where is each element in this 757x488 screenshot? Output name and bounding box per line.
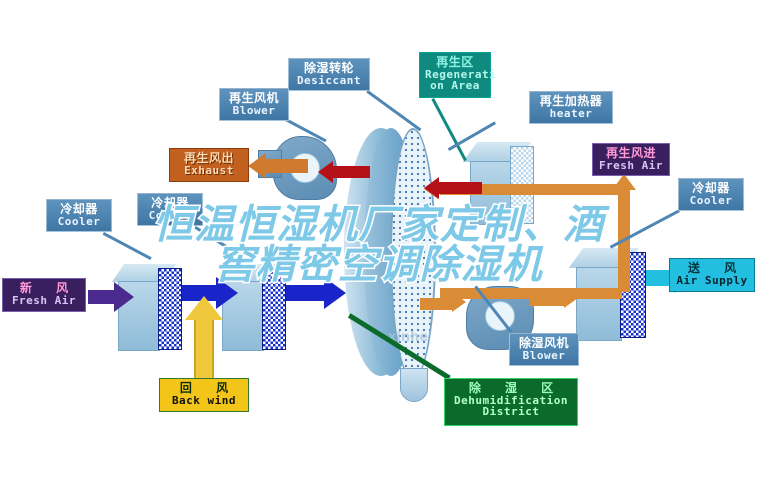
label-regen-blower-en: Blower xyxy=(225,105,283,117)
cooler-unit-2-coil xyxy=(262,268,286,350)
label-cooler-left-b-cn: 冷却器 xyxy=(143,197,197,210)
label-regeneration-area-cn: 再生区 xyxy=(425,56,485,69)
supply-filter-front xyxy=(576,267,622,341)
leader-cooler-left-a xyxy=(103,232,152,260)
label-regen-fresh-air-in: 再生风进Fresh Air xyxy=(592,143,670,176)
label-regen-blower-cn: 再生风机 xyxy=(225,92,283,105)
label-dehum-blower: 除湿风机Blower xyxy=(509,333,579,366)
leader-regen-area xyxy=(431,98,467,161)
label-desiccant-rotor-en: Desiccant xyxy=(294,75,364,87)
label-fresh-air-in-en: Fresh Air xyxy=(8,295,80,307)
label-regen-blower: 再生风机Blower xyxy=(219,88,289,121)
label-back-wind: 回 风Back wind xyxy=(159,378,249,412)
leader-desiccant xyxy=(366,90,421,131)
arrow-fresh-air-in xyxy=(88,282,134,312)
arrow-regen-air-bottom-run xyxy=(440,288,622,299)
label-desiccant-rotor-cn: 除湿转轮 xyxy=(294,62,364,75)
schematic-canvas: xinhe xyxy=(0,0,757,488)
arrow-regen-hot-air xyxy=(424,176,482,200)
label-regeneration-area: 再生区Regeneration Area xyxy=(419,52,491,98)
leader-cooler-left-b xyxy=(194,226,236,254)
label-dehumidification-district-cn: 除 湿 区 xyxy=(450,382,572,395)
label-regen-heater-en: heater xyxy=(535,108,607,120)
label-fresh-air-in-cn: 新 风 xyxy=(8,282,80,295)
label-regen-fresh-air-in-cn: 再生风进 xyxy=(598,147,664,160)
label-cooler-right-en: Cooler xyxy=(684,195,738,207)
label-regeneration-area-en2: on Area xyxy=(425,80,485,92)
label-dehum-blower-cn: 除湿风机 xyxy=(515,337,573,350)
label-dehumidification-district: 除 湿 区DehumidificationDistrict xyxy=(444,378,578,426)
arrow-back-wind xyxy=(185,296,223,378)
cooler-unit-1-coil xyxy=(158,268,182,350)
label-cooler-left-a: 冷却器Cooler xyxy=(46,199,112,232)
label-air-supply: 送 风Air Supply xyxy=(669,258,755,292)
label-cooler-right: 冷却器Cooler xyxy=(678,178,744,211)
label-air-supply-cn: 送 风 xyxy=(675,262,749,275)
label-back-wind-en: Back wind xyxy=(165,395,243,407)
label-cooler-left-b-en: Cooler xyxy=(143,210,197,222)
label-cooler-right-cn: 冷却器 xyxy=(684,182,738,195)
label-back-wind-cn: 回 风 xyxy=(165,382,243,395)
label-fresh-air-in: 新 风Fresh Air xyxy=(2,278,86,312)
label-dehumidification-district-en2: District xyxy=(450,406,572,418)
label-regen-exhaust-out-en: Exhaust xyxy=(175,165,243,177)
label-air-supply-en: Air Supply xyxy=(675,275,749,287)
label-cooler-left-b: 冷却器Cooler xyxy=(137,193,203,226)
arrow-regen-to-blower xyxy=(318,160,370,184)
arrow-regen-exhaust-out xyxy=(248,152,308,180)
label-regen-heater-cn: 再生加热器 xyxy=(535,95,607,108)
wheel-drain-scoop xyxy=(400,368,428,402)
label-regen-exhaust-out: 再生风出Exhaust xyxy=(169,148,249,182)
label-dehum-blower-en: Blower xyxy=(515,350,573,362)
label-regen-heater: 再生加热器heater xyxy=(529,91,613,124)
label-desiccant-rotor: 除湿转轮Desiccant xyxy=(288,58,370,91)
label-regen-exhaust-out-cn: 再生风出 xyxy=(175,152,243,165)
label-regen-fresh-air-in-en: Fresh Air xyxy=(598,160,664,172)
arrow-process-air-2 xyxy=(286,276,348,310)
label-cooler-left-a-en: Cooler xyxy=(52,216,106,228)
label-cooler-left-a-cn: 冷却器 xyxy=(52,203,106,216)
